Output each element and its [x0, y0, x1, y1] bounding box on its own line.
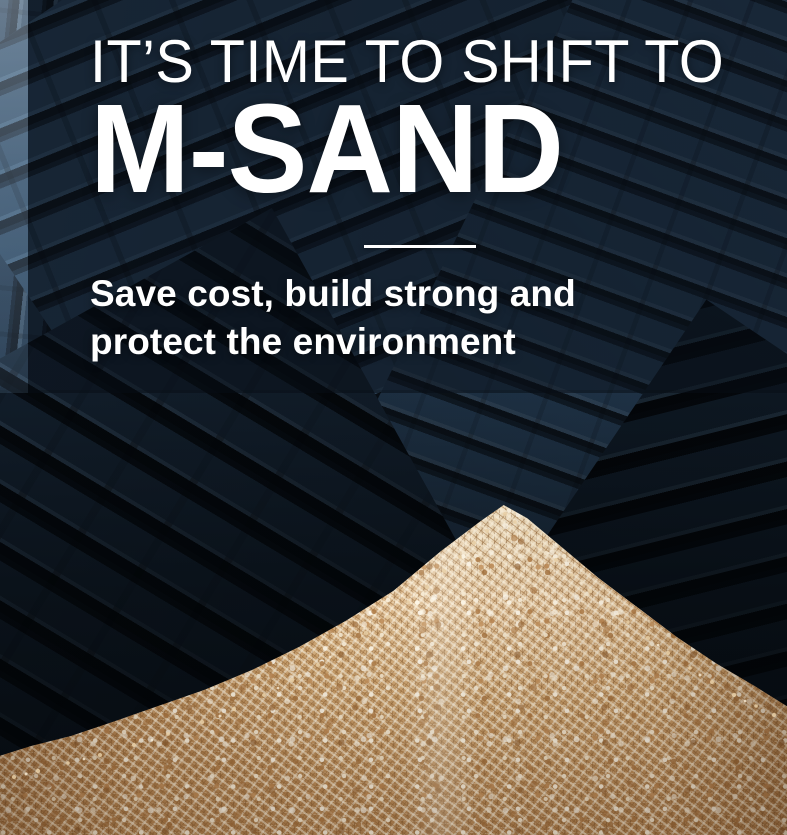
headline-divider-rule — [364, 245, 476, 248]
msand-promo-poster: IT’S TIME TO SHIFT TO M-SAND Save cost, … — [0, 0, 787, 835]
tagline-line-2: protect the environment — [90, 318, 750, 366]
headline-text-block: IT’S TIME TO SHIFT TO M-SAND Save cost, … — [90, 0, 750, 366]
brand-headline: M-SAND — [90, 90, 717, 208]
tagline: Save cost, build strong and protect the … — [90, 270, 750, 366]
tagline-line-1: Save cost, build strong and — [90, 270, 750, 318]
left-edge-strip — [0, 0, 28, 393]
